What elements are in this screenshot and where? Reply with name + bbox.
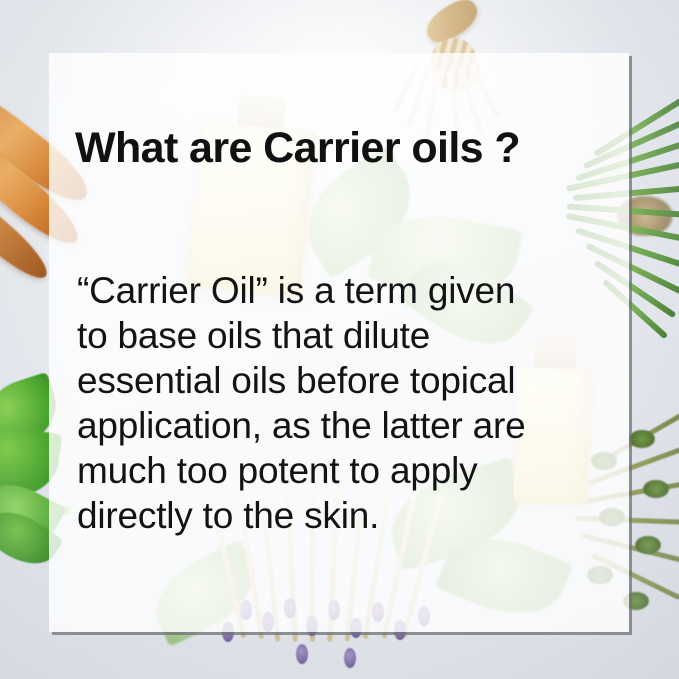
- thyme-leaf-icon: [635, 536, 661, 554]
- page-title: What are Carrier oils ?: [75, 126, 520, 171]
- lavender-bud: [296, 644, 308, 664]
- thyme-leaf-icon: [643, 480, 669, 498]
- paragraph-line: essential oils before topical: [77, 358, 617, 403]
- paragraph-line: application, as the latter are: [77, 403, 617, 448]
- paragraph-line: “Carrier Oil” is a term given: [77, 268, 617, 313]
- paragraph-line: directly to the skin.: [77, 493, 617, 538]
- infographic-canvas: What are Carrier oils ? “Carrier Oil” is…: [0, 0, 679, 679]
- paragraph-line: to base oils that dilute: [77, 313, 617, 358]
- content-panel: What are Carrier oils ? “Carrier Oil” is…: [49, 53, 629, 632]
- paragraph-line: much too potent to apply: [77, 448, 617, 493]
- lavender-bud: [344, 648, 356, 668]
- description-paragraph: “Carrier Oil” is a term given to base oi…: [77, 268, 617, 538]
- thyme-leaf-icon: [629, 430, 655, 448]
